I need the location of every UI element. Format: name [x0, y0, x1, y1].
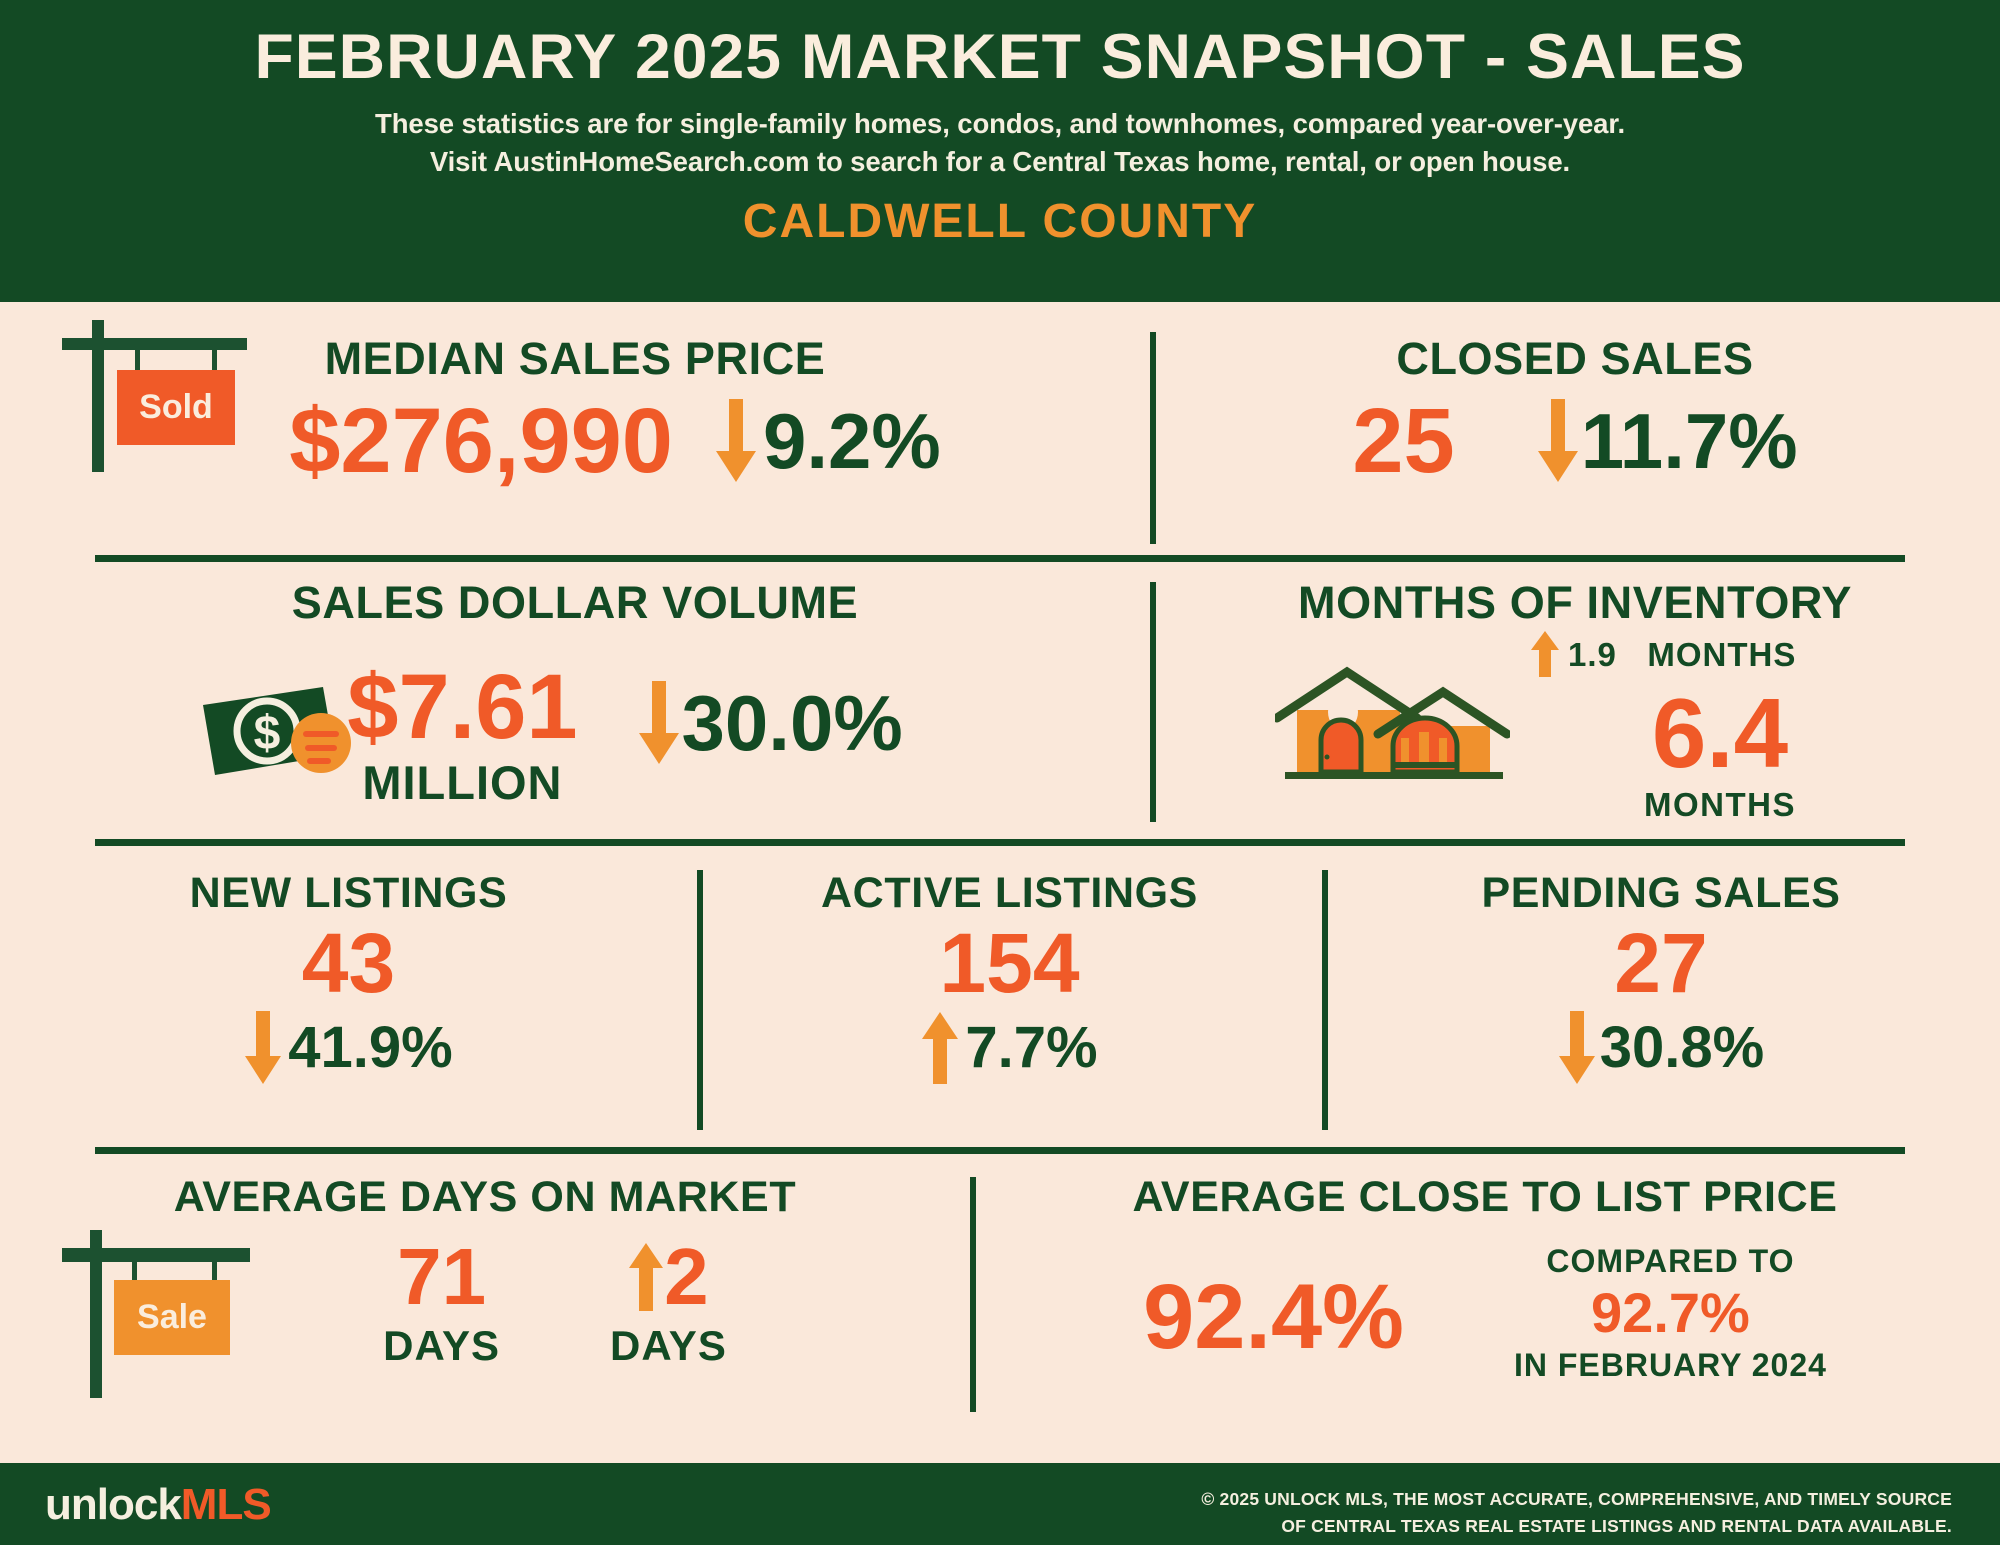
active-listings-change: 7.7% — [965, 1019, 1097, 1077]
sale-sign-board: Sale — [114, 1280, 230, 1355]
arrow-up-icon — [1530, 630, 1560, 678]
unlock-mls-logo[interactable]: unlockMLS — [45, 1483, 271, 1527]
average-close-to-list-price-value: 92.4% — [1143, 1271, 1404, 1363]
compared-to-value: 92.7% — [1591, 1285, 1750, 1341]
logo-unlock-text: unlock — [45, 1480, 181, 1529]
months-of-inventory-unit: MONTHS — [1530, 788, 1910, 821]
average-days-on-market-change: 2 — [664, 1237, 709, 1317]
svg-text:$: $ — [254, 707, 281, 760]
stat-new-listings: NEW LISTINGS 43 41.9% — [0, 868, 697, 1138]
stat-active-listings: ACTIVE LISTINGS 154 7.7% — [697, 868, 1322, 1138]
arrow-down-icon — [1537, 399, 1579, 483]
average-days-on-market-unit: DAYS — [383, 1325, 500, 1367]
divider-horizontal-2 — [95, 839, 1905, 846]
arrow-down-icon — [638, 681, 680, 765]
closed-sales-change: 11.7% — [1581, 402, 1798, 480]
median-sales-price-value: $276,990 — [289, 395, 673, 487]
market-snapshot-infographic: FEBRUARY 2025 MARKET SNAPSHOT - SALES Th… — [0, 0, 2000, 1545]
compared-to-label: COMPARED TO — [1546, 1245, 1794, 1277]
arrow-down-icon — [1558, 1011, 1596, 1085]
houses-icon — [1275, 662, 1510, 787]
months-of-inventory-value: 6.4 — [1530, 684, 1910, 782]
new-listings-value: 43 — [0, 921, 697, 1005]
stat-median-sales-price: MEDIAN SALES PRICE Sold $276,990 9.2% — [0, 330, 1150, 550]
months-of-inventory-caption: MONTHS OF INVENTORY — [1150, 580, 2000, 625]
stat-average-close-to-list-price: AVERAGE CLOSE TO LIST PRICE 92.4% COMPAR… — [970, 1174, 2000, 1419]
sold-sign-label: Sold — [139, 388, 213, 427]
sold-sign-board: Sold — [117, 370, 235, 445]
active-listings-value: 154 — [697, 921, 1322, 1005]
months-of-inventory-change: 1.9 MONTHS — [1568, 638, 1796, 671]
divider-horizontal-3 — [95, 1147, 1905, 1154]
stat-closed-sales: CLOSED SALES 25 11.7% — [1150, 330, 2000, 550]
copyright-line-1: © 2025 UNLOCK MLS, THE MOST ACCURATE, CO… — [1201, 1486, 1952, 1513]
county-name: CALDWELL COUNTY — [0, 198, 2000, 246]
pending-sales-change: 30.8% — [1600, 1019, 1764, 1077]
arrow-up-icon — [628, 1242, 664, 1312]
sold-sign-icon: Sold — [62, 312, 252, 472]
stats-grid: MEDIAN SALES PRICE Sold $276,990 9.2% — [0, 302, 2000, 1463]
active-listings-caption: ACTIVE LISTINGS — [697, 872, 1322, 915]
months-of-inventory-change-value: 1.9 — [1568, 636, 1617, 673]
months-of-inventory-change-unit: MONTHS — [1647, 636, 1796, 673]
stat-pending-sales: PENDING SALES 27 30.8% — [1322, 868, 2000, 1138]
sales-dollar-volume-caption: SALES DOLLAR VOLUME — [0, 580, 1150, 625]
new-listings-caption: NEW LISTINGS — [0, 872, 697, 915]
footer-bar: unlockMLS © 2025 UNLOCK MLS, THE MOST AC… — [0, 1463, 2000, 1545]
closed-sales-caption: CLOSED SALES — [1150, 336, 2000, 381]
median-sales-price-change: 9.2% — [763, 402, 941, 480]
stat-average-days-on-market: AVERAGE DAYS ON MARKET Sale 71 DAYS — [0, 1174, 970, 1419]
money-bill-icon: $ — [195, 675, 355, 785]
arrow-down-icon — [244, 1011, 282, 1085]
sales-dollar-volume-change: 30.0% — [682, 684, 903, 762]
header-subtitle-line1: These statistics are for single-family h… — [0, 105, 2000, 143]
header-subtitle-line2: Visit AustinHomeSearch.com to search for… — [0, 143, 2000, 181]
logo-mls-text: MLS — [181, 1480, 271, 1529]
average-days-on-market-value: 71 — [397, 1237, 486, 1317]
arrow-down-icon — [715, 399, 757, 483]
sales-dollar-volume-value: $7.61 — [347, 661, 577, 753]
page-title: FEBRUARY 2025 MARKET SNAPSHOT - SALES — [0, 0, 2000, 89]
pending-sales-caption: PENDING SALES — [1322, 872, 2000, 915]
compared-to-period: IN FEBRUARY 2024 — [1514, 1349, 1827, 1381]
header-subtitle: These statistics are for single-family h… — [0, 105, 2000, 181]
average-days-on-market-change-unit: DAYS — [610, 1325, 727, 1367]
stat-months-of-inventory: MONTHS OF INVENTORY — [1150, 580, 2000, 830]
closed-sales-value: 25 — [1352, 395, 1454, 487]
sales-dollar-volume-unit: MILLION — [362, 759, 562, 806]
arrow-up-icon — [921, 1011, 959, 1085]
average-close-to-list-price-caption: AVERAGE CLOSE TO LIST PRICE — [970, 1176, 2000, 1219]
divider-horizontal-1 — [95, 555, 1905, 562]
new-listings-change: 41.9% — [288, 1019, 452, 1077]
stat-sales-dollar-volume: SALES DOLLAR VOLUME $ $7.61 MILLION — [0, 580, 1150, 830]
header-banner: FEBRUARY 2025 MARKET SNAPSHOT - SALES Th… — [0, 0, 2000, 302]
copyright-line-2: OF CENTRAL TEXAS REAL ESTATE LISTINGS AN… — [1201, 1513, 1952, 1540]
sale-sign-icon: Sale — [62, 1220, 262, 1400]
average-days-on-market-caption: AVERAGE DAYS ON MARKET — [0, 1176, 970, 1219]
sale-sign-label: Sale — [137, 1298, 207, 1337]
pending-sales-value: 27 — [1322, 921, 2000, 1005]
copyright-notice: © 2025 UNLOCK MLS, THE MOST ACCURATE, CO… — [1201, 1486, 1952, 1540]
